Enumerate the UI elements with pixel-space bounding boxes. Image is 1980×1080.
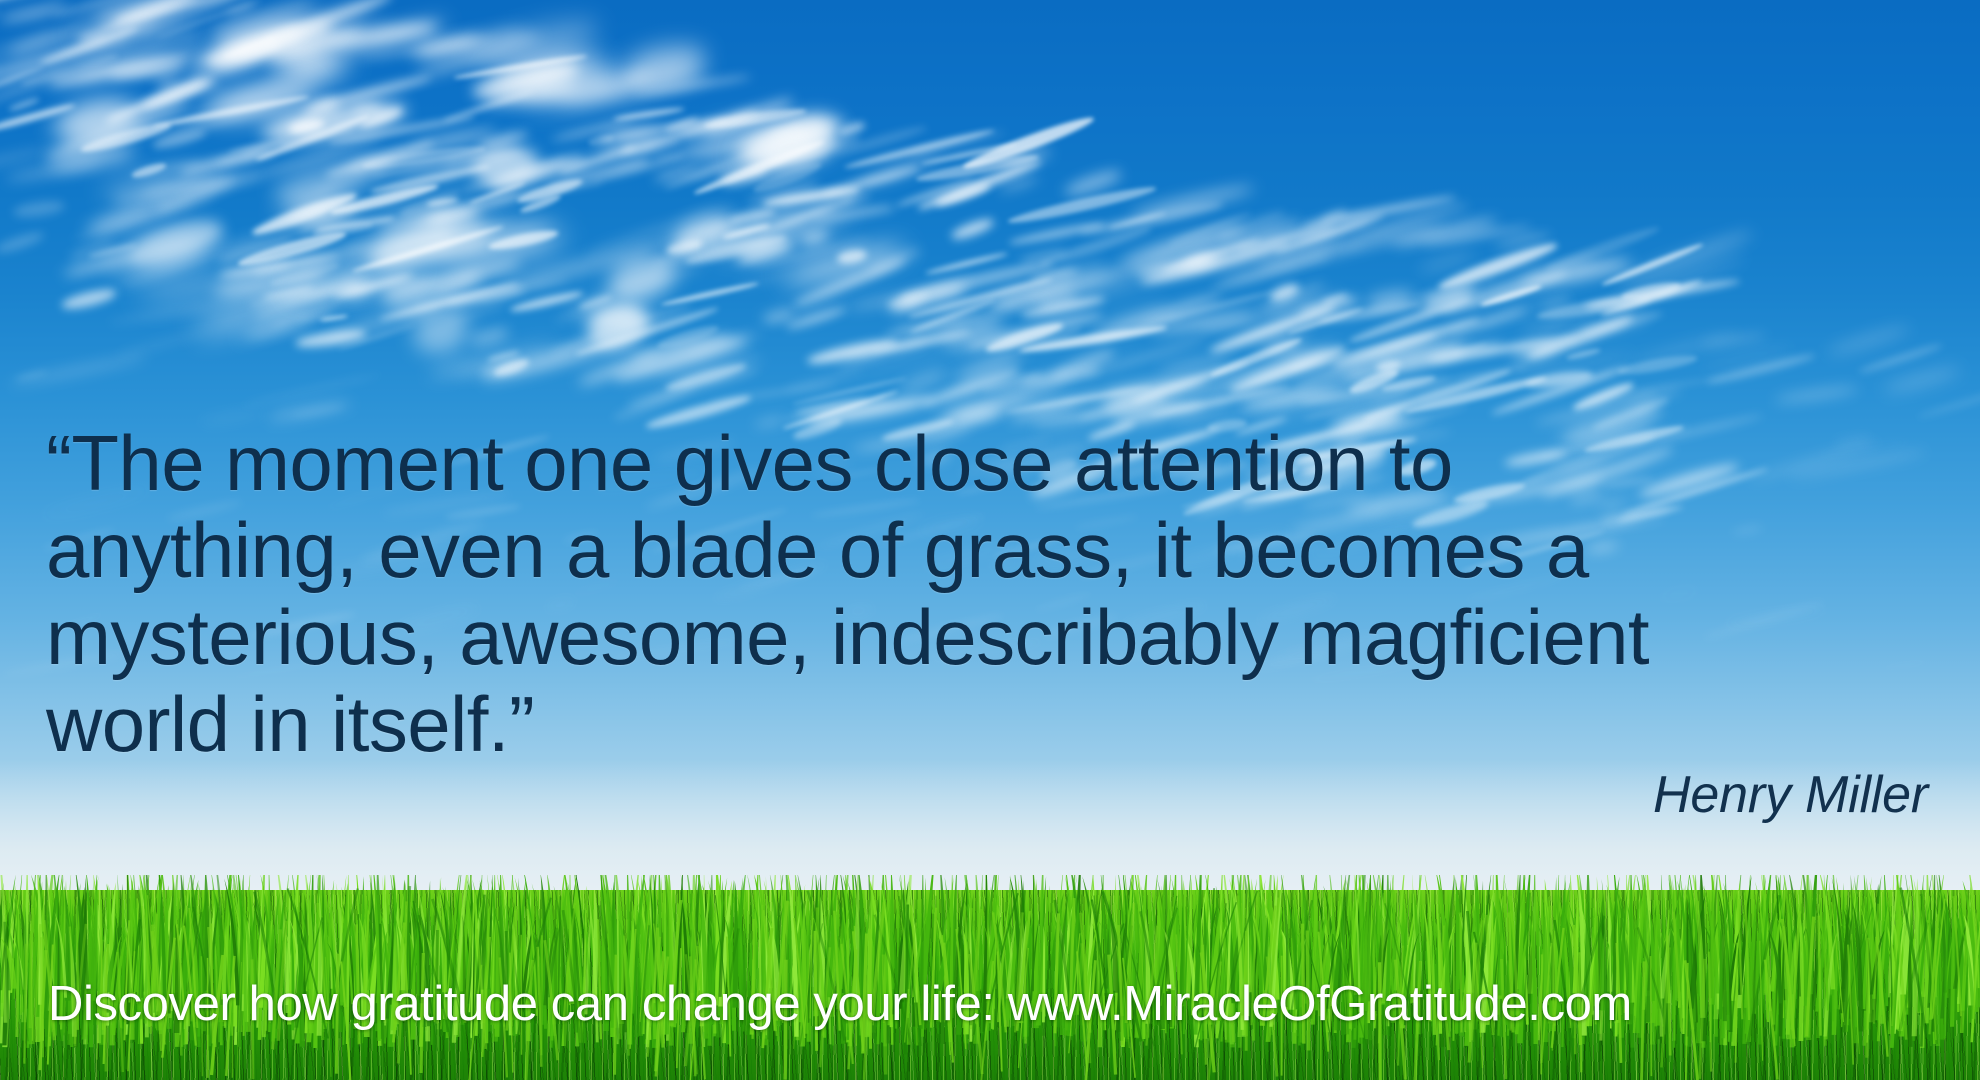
tagline-text: Discover how gratitude can change your l… <box>48 976 1632 1032</box>
quote-line-4: world in itself.” <box>46 681 1846 768</box>
quote-author: Henry Miller <box>1653 764 1928 826</box>
quote-line-2: anything, even a blade of grass, it beco… <box>46 507 1846 594</box>
quote-line-3: mysterious, awesome, indescribably magfi… <box>46 594 1846 681</box>
quote-line-1: “The moment one gives close attention to <box>46 420 1846 507</box>
banner-stage: “The moment one gives close attention to… <box>0 0 1980 1080</box>
quote-block: “The moment one gives close attention to… <box>46 420 1846 768</box>
